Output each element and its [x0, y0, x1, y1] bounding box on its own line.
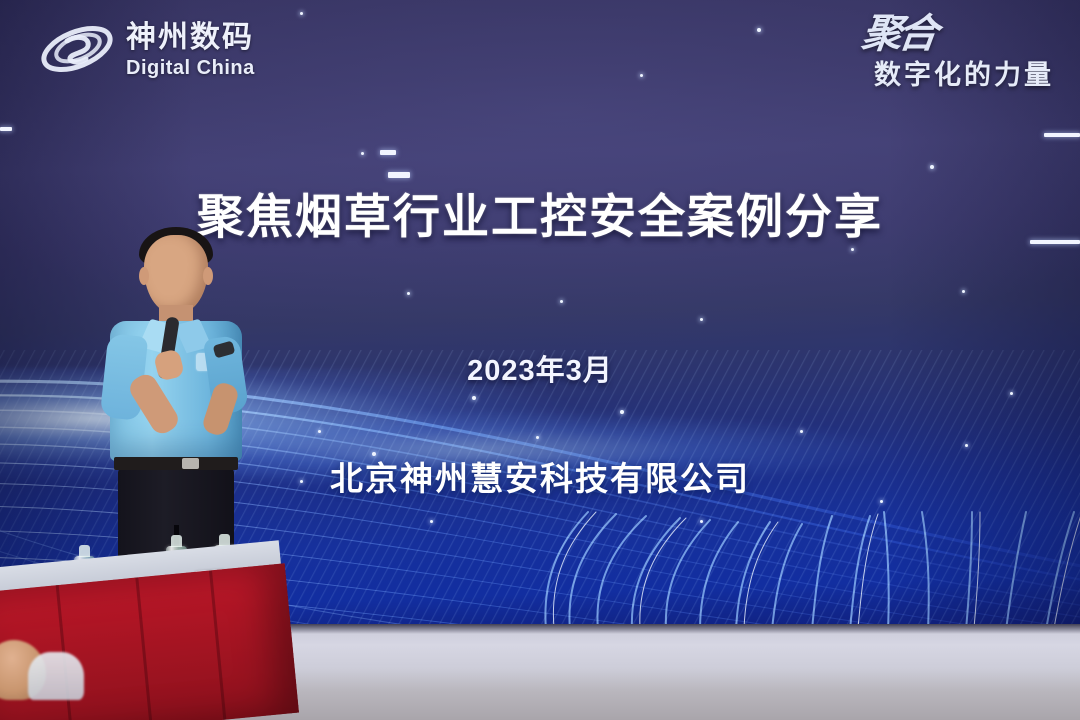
- particle-dash: [1044, 133, 1080, 137]
- particle-dot: [700, 318, 703, 321]
- swirl-spiral-icon: [38, 18, 116, 82]
- particle-dash: [0, 127, 12, 131]
- speaker-belt: [114, 457, 238, 470]
- particle-dot: [757, 28, 761, 32]
- skirt-fold: [209, 570, 226, 720]
- particle-dot: [300, 12, 303, 15]
- brand-name-en: Digital China: [126, 58, 255, 78]
- brand-wordmark: 神州数码 Digital China: [126, 23, 255, 78]
- particle-dot: [560, 300, 563, 303]
- speaker-head: [144, 235, 208, 313]
- skirt-fold: [135, 577, 152, 720]
- photo-scene: 神州数码 Digital China 聚合 数字化的力量 聚焦烟草行业工控安全案…: [0, 0, 1080, 720]
- brand-name-cn: 神州数码: [126, 23, 255, 53]
- speaker-ear-right: [203, 267, 213, 285]
- particle-dot: [361, 152, 364, 155]
- digital-china-logo: 神州数码 Digital China: [38, 18, 255, 82]
- event-slogan: 聚合 数字化的力量: [862, 14, 1054, 89]
- particle-dot: [851, 248, 854, 251]
- particle-dash: [380, 150, 396, 155]
- particle-dot: [962, 290, 965, 293]
- speaker-ear-left: [139, 267, 149, 285]
- speaker-belt-buckle: [182, 458, 199, 469]
- particle-dot: [930, 165, 934, 169]
- particle-dot: [407, 292, 410, 295]
- slogan-calligraphy: 聚合: [860, 14, 937, 54]
- seated-attendee-papers: [28, 652, 84, 700]
- particle-dot: [640, 74, 643, 77]
- slogan-subtitle: 数字化的力量: [862, 62, 1054, 89]
